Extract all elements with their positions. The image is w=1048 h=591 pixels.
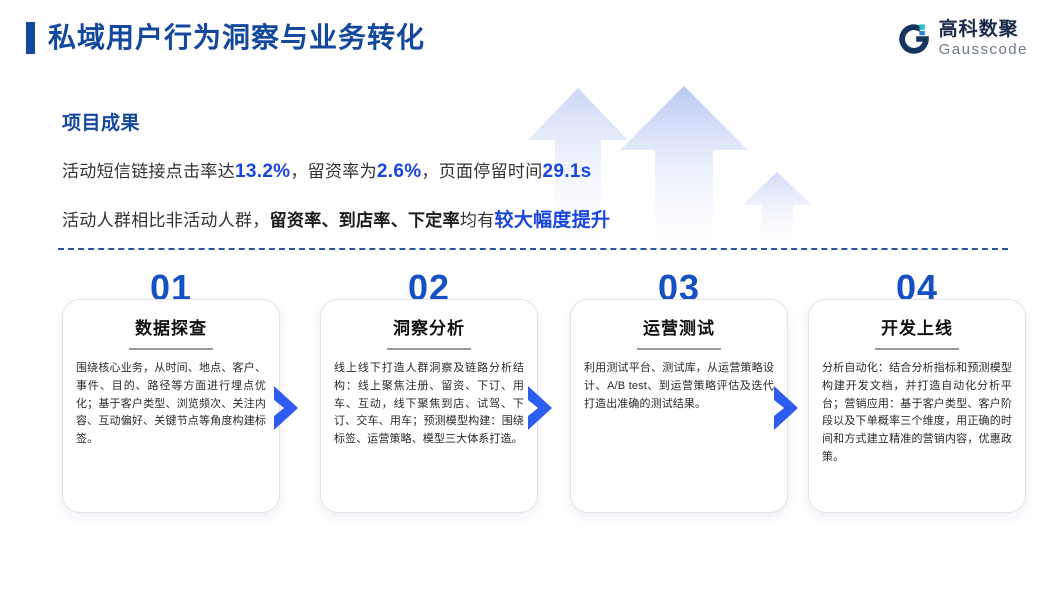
results-section: 项目成果 活动短信链接点击率达13.2%，留资率为2.6%，页面停留时间29.1… (62, 108, 610, 254)
logo-name-en: Gausscode (939, 42, 1028, 57)
slide-root: 私域用户行为洞察与业务转化 高科数聚 Gausscode 项目成果 活动短信链接… (0, 0, 1048, 591)
slide-header: 私域用户行为洞察与业务转化 高科数聚 Gausscode (0, 0, 1048, 78)
chevron-right-icon-2 (526, 386, 552, 430)
chevron-right-icon-1 (272, 386, 298, 430)
results-line2-highlight: 较大幅度提升 (495, 210, 611, 231)
results-line2-seg1: 活动人群相比非活动人群， (62, 211, 270, 230)
step-card-01[interactable]: 01 数据探查 围绕核心业务，从时间、地点、客户、事件、目的、路径等方面进行埋点… (62, 268, 280, 520)
step-card-02[interactable]: 02 洞察分析 线上线下打造人群洞察及链路分析结构：线上聚焦注册、留资、下订、用… (320, 268, 538, 520)
results-heading: 项目成果 (62, 108, 610, 135)
results-line1-seg2: ，留资率为 (290, 162, 377, 181)
step-title-02: 洞察分析 (334, 314, 524, 339)
step-rule-04 (875, 348, 959, 350)
step-card-body-03[interactable]: 运营测试 利用测试平台、测试库，从运营策略设计、A/B test、到运营策略评估… (570, 299, 788, 513)
step-body-04: 分析自动化：结合分析指标和预测模型构建开发文档，并打造自动化分析平台；营销应用：… (822, 360, 1012, 467)
results-line2-metrics: 留资率、到店率、下定率 (270, 211, 460, 230)
step-body-01: 围绕核心业务，从时间、地点、客户、事件、目的、路径等方面进行埋点优化；基于客户类… (76, 360, 266, 449)
step-card-body-02[interactable]: 洞察分析 线上线下打造人群洞察及链路分析结构：线上聚焦注册、留资、下订、用车、互… (320, 299, 538, 513)
results-line-1: 活动短信链接点击率达13.2%，留资率为2.6%，页面停留时间29.1s (62, 157, 610, 183)
results-line-2: 活动人群相比非活动人群，留资率、到店率、下定率均有较大幅度提升 (62, 205, 610, 232)
step-title-04: 开发上线 (822, 314, 1012, 339)
step-rule-01 (129, 348, 213, 350)
step-title-01: 数据探查 (76, 314, 266, 339)
results-line1-seg3: ，页面停留时间 (421, 162, 542, 181)
metric-click-rate: 13.2% (235, 161, 290, 182)
metric-dwell-time: 29.1s (543, 161, 592, 182)
step-card-04[interactable]: 04 开发上线 分析自动化：结合分析指标和预测模型构建开发文档，并打造自动化分析… (808, 268, 1026, 520)
section-divider (58, 248, 1008, 250)
metric-lead-rate: 2.6% (377, 161, 422, 182)
step-card-03[interactable]: 03 运营测试 利用测试平台、测试库，从运营策略设计、A/B test、到运营策… (570, 268, 788, 520)
results-line2-seg2: 均有 (460, 211, 495, 230)
step-card-body-01[interactable]: 数据探查 围绕核心业务，从时间、地点、客户、事件、目的、路径等方面进行埋点优化；… (62, 299, 280, 513)
brand-logo: 高科数聚 Gausscode (897, 20, 1028, 57)
results-line1-seg1: 活动短信链接点击率达 (62, 162, 235, 181)
background-arrow-right-icon (742, 172, 812, 250)
logo-text: 高科数聚 Gausscode (939, 20, 1028, 57)
step-rule-02 (387, 348, 471, 350)
step-body-02: 线上线下打造人群洞察及链路分析结构：线上聚焦注册、留资、下订、用车、互动，线下聚… (334, 360, 524, 449)
step-body-03: 利用测试平台、测试库，从运营策略设计、A/B test、到运营策略评估及迭代打造… (584, 360, 774, 413)
step-title-03: 运营测试 (584, 314, 774, 339)
step-card-body-04[interactable]: 开发上线 分析自动化：结合分析指标和预测模型构建开发文档，并打造自动化分析平台；… (808, 299, 1026, 513)
step-rule-03 (637, 348, 721, 350)
page-title: 私域用户行为洞察与业务转化 (48, 18, 425, 58)
steps-row: 01 数据探查 围绕核心业务，从时间、地点、客户、事件、目的、路径等方面进行埋点… (0, 268, 1048, 528)
logo-name-cn: 高科数聚 (939, 20, 1028, 39)
chevron-right-icon-3 (772, 386, 798, 430)
title-accent-bar (26, 22, 35, 54)
gausscode-logo-icon (897, 22, 931, 56)
background-arrow-center-icon (620, 86, 748, 261)
